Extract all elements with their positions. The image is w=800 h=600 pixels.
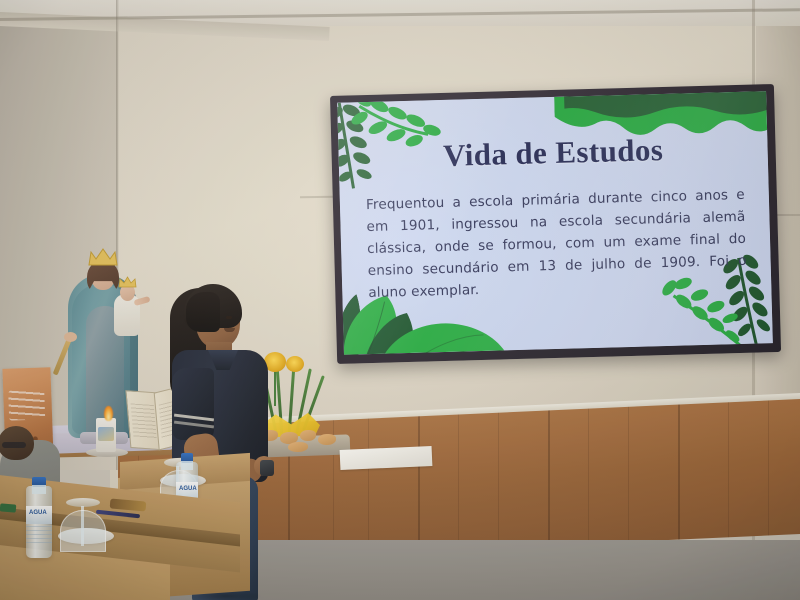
tv-screen: Vida de Estudos Frequentou a escola prim…	[337, 91, 773, 355]
papers-on-counter	[340, 446, 433, 470]
bottle-label-text-2: AGUA	[29, 510, 47, 516]
small-green-object	[0, 503, 16, 512]
wine-glass-upturned-2	[58, 492, 108, 556]
child-jesus-figure	[112, 280, 142, 338]
small-crown-icon	[118, 276, 137, 288]
wall-mounted-television[interactable]: Vida de Estudos Frequentou a escola prim…	[330, 84, 781, 364]
water-bottle-2: AGUA	[26, 486, 52, 558]
presentation-slide: Vida de Estudos Frequentou a escola prim…	[337, 91, 773, 355]
bottle-label-text: AGUA	[179, 486, 197, 492]
handheld-device	[260, 460, 274, 476]
room-scene: Vida de Estudos Frequentou a escola prim…	[0, 0, 800, 600]
eyeglasses	[2, 442, 26, 448]
candle-flame	[104, 406, 113, 421]
crown-icon	[88, 248, 118, 266]
lit-candle	[96, 418, 116, 452]
slide-body-text: Frequentou a escola primária durante cin…	[366, 184, 748, 304]
